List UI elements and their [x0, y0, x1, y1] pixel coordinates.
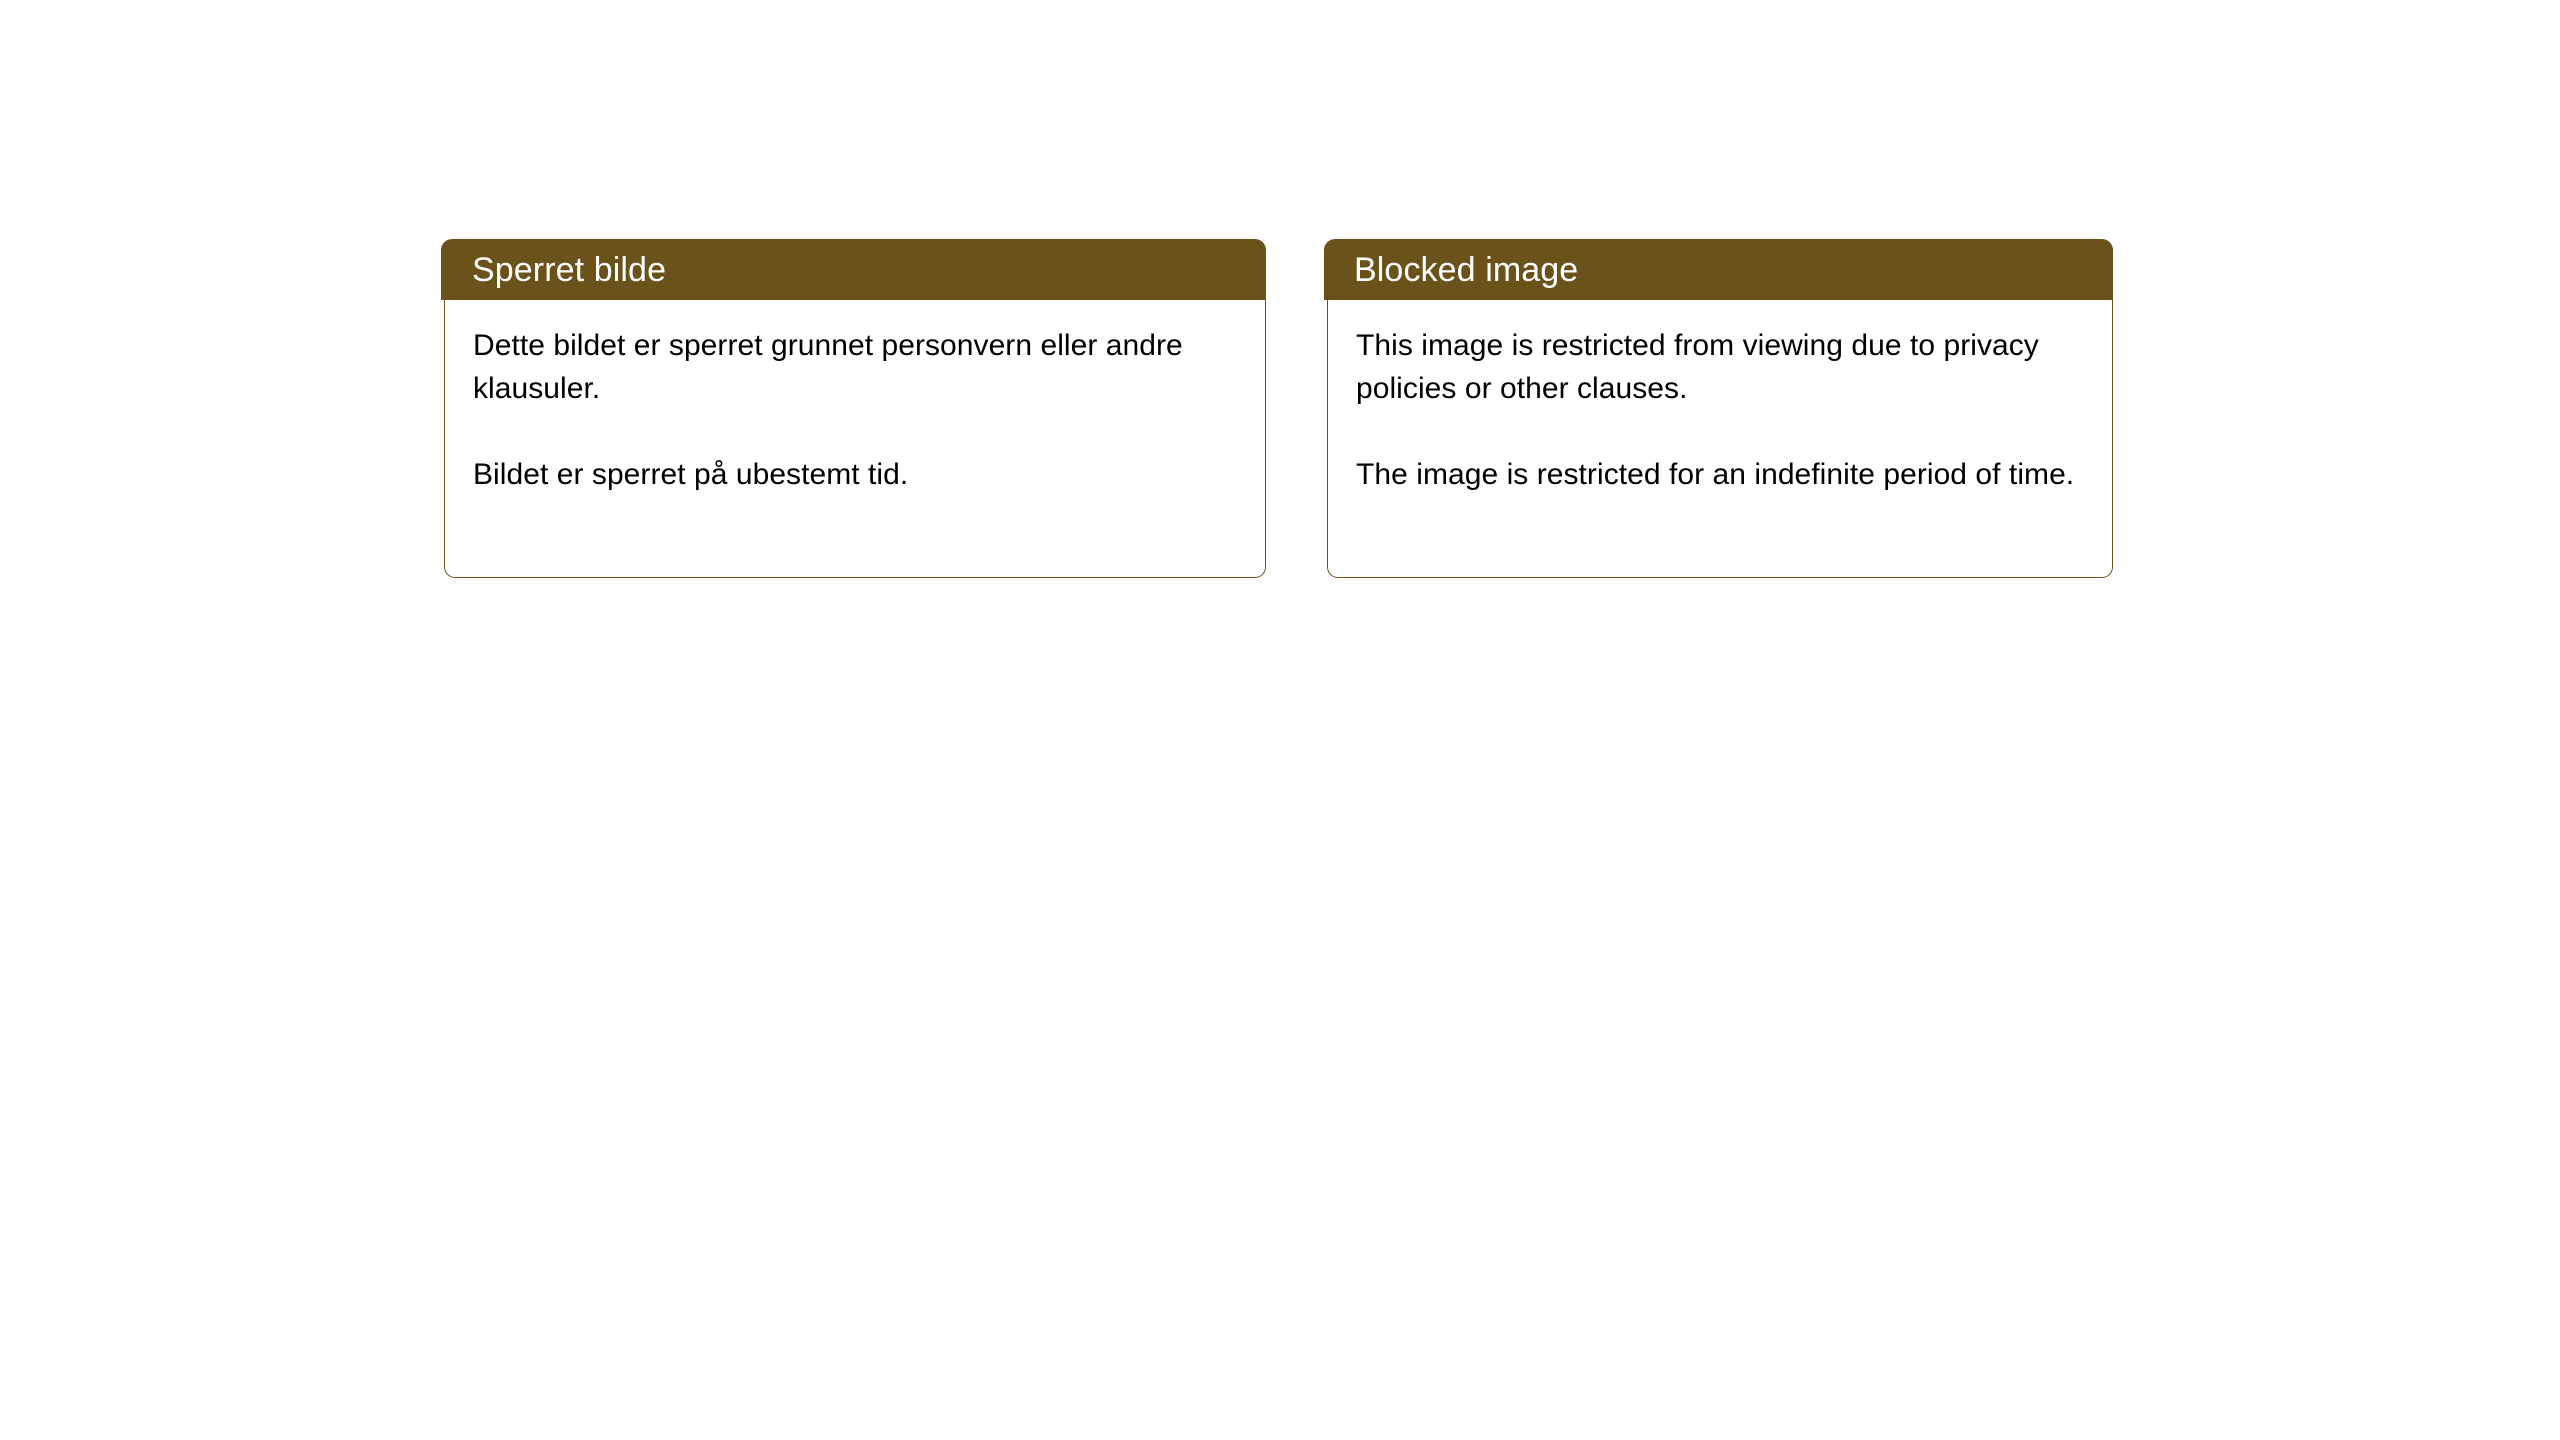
page-root: Sperret bilde Dette bildet er sperret gr… [0, 0, 2560, 1440]
notice-title-english: Blocked image [1354, 253, 1578, 287]
notice-paragraph-primary-english: This image is restricted from viewing du… [1356, 324, 2084, 410]
paragraph-spacer [1356, 410, 2084, 453]
notice-paragraph-primary-norwegian: Dette bildet er sperret grunnet personve… [473, 324, 1237, 410]
notice-title-norwegian: Sperret bilde [472, 253, 666, 287]
notice-body-norwegian: Dette bildet er sperret grunnet personve… [444, 300, 1266, 578]
blocked-image-notice-norwegian: Sperret bilde Dette bildet er sperret gr… [444, 239, 1266, 578]
paragraph-spacer [473, 410, 1237, 453]
notice-header-norwegian: Sperret bilde [441, 239, 1266, 300]
notice-header-english: Blocked image [1324, 239, 2113, 300]
blocked-image-notice-english: Blocked image This image is restricted f… [1327, 239, 2113, 578]
notice-body-english: This image is restricted from viewing du… [1327, 300, 2113, 578]
notice-paragraph-secondary-norwegian: Bildet er sperret på ubestemt tid. [473, 453, 1237, 496]
notice-paragraph-secondary-english: The image is restricted for an indefinit… [1356, 453, 2084, 496]
